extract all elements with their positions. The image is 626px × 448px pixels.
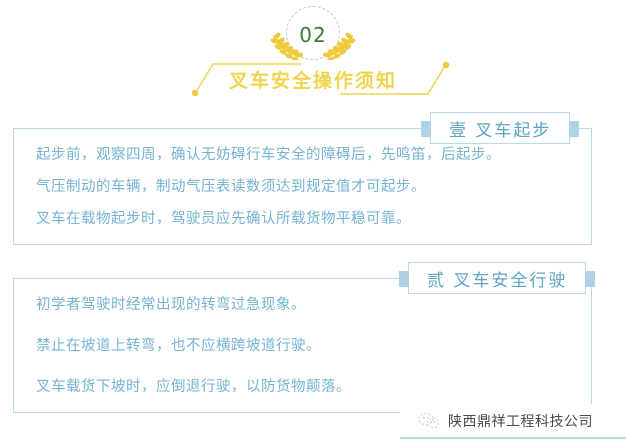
section-two-header: 贰 叉车安全行驶 [408, 262, 586, 294]
footer-company-name: 陕西鼎祥工程科技公司 [448, 411, 593, 431]
page-title-row: 叉车安全操作须知 [0, 62, 626, 100]
footer-brand[interactable]: 陕西鼎祥工程科技公司 [400, 404, 626, 438]
body-line: 初学者驾驶时经常出现的转弯过急现象。 [36, 295, 591, 316]
body-line: 叉车载货下坡时，应倒退行驶，以防货物颠落。 [36, 377, 591, 398]
laurel-right-icon [322, 30, 356, 60]
section-one-header: 壹 叉车起步 [430, 112, 570, 144]
badge-header: 02 [0, 4, 626, 64]
page-title: 叉车安全操作须知 [229, 66, 397, 93]
body-line: 起步前，观察四周，确认无妨碍行车安全的障碍后，先鸣笛，后起步。 [36, 145, 591, 166]
body-line: 禁止在坡道上转弯，也不应横跨坡道行驶。 [36, 336, 591, 357]
section-one-lines: 起步前，观察四周，确认无妨碍行车安全的障碍后，先鸣笛，后起步。 气压制动的车辆，… [14, 129, 591, 244]
body-line: 叉车在载物起步时，驾驶员应先确认所载货物平稳可靠。 [36, 209, 591, 230]
section-one-body-box: 起步前，观察四周，确认无妨碍行车安全的障碍后，先鸣笛，后起步。 气压制动的车辆，… [13, 128, 592, 245]
section-two-label: 贰 叉车安全行驶 [427, 266, 567, 291]
body-line: 气压制动的车辆，制动气压表读数须达到规定值才可起步。 [36, 177, 591, 198]
section-two-body-box: 初学者驾驶时经常出现的转弯过急现象。 禁止在坡道上转弯，也不应横跨坡道行驶。 叉… [13, 278, 592, 413]
wechat-logo-icon [418, 412, 440, 430]
section-two-tab-left-icon [399, 271, 409, 287]
section-two-lines: 初学者驾驶时经常出现的转弯过急现象。 禁止在坡道上转弯，也不应横跨坡道行驶。 叉… [14, 279, 591, 412]
footer-bottom-rule [400, 437, 626, 439]
section-one-tab-right-icon [569, 121, 579, 137]
section-two-tab-right-icon [585, 271, 595, 287]
badge-number: 02 [299, 23, 326, 47]
section-one-tab-left-icon [421, 121, 431, 137]
section-one-label: 壹 叉车起步 [449, 116, 551, 141]
